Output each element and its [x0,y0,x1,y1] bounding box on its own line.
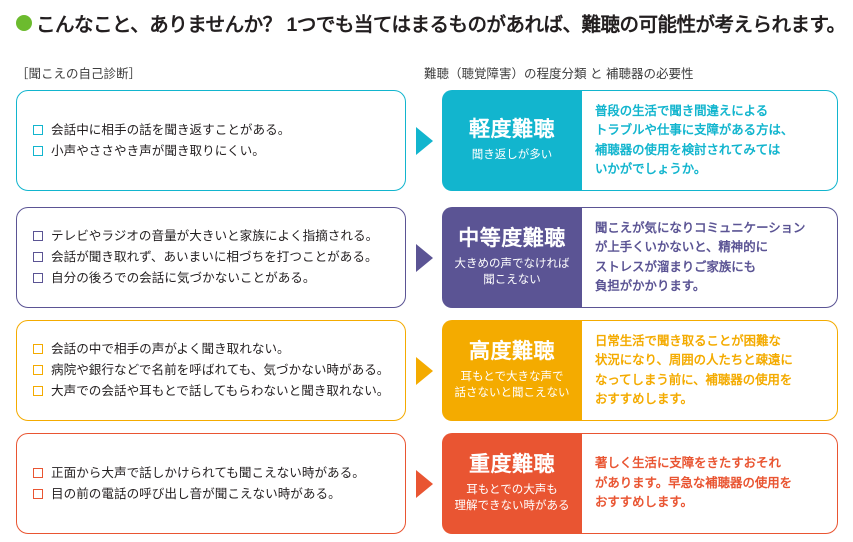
checkbox-icon[interactable] [33,252,43,262]
checklist-item-label: 病院や銀行などで名前を呼ばれても、気づかない時がある。 [51,360,389,381]
description-line: が上手くいかないと、精神的に [595,238,827,258]
page-headline: こんなこと、ありませんか？ 1つでも当てはまるものがあれば、難聴の可能性が考えら… [16,8,842,37]
checklist-card: 会話中に相手の話を聞き返すことがある。小声やささやき声が聞き取りにくい。 [16,90,406,191]
checkbox-icon[interactable] [33,146,43,156]
triangle-right-icon [416,470,433,498]
checkbox-icon[interactable] [33,125,43,135]
grade-name: 重度難聴 [469,453,555,477]
description-line: 補聴器の使用を検討されてみては [595,141,827,161]
headline-text: こんなこと、ありませんか？ 1つでも当てはまるものがあれば、難聴の可能性が考えら… [36,8,846,37]
checklist-item[interactable]: 会話の中で相手の声がよく聞き取れない。 [33,339,391,360]
checklist-item-label: 自分の後ろでの会話に気づかないことがある。 [51,268,315,289]
checklist-item-label: 会話の中で相手の声がよく聞き取れない。 [51,339,290,360]
severity-description-panel: 著しく生活に支障をきたすおそれがあります。早急な補聴器の使用をおすすめします。 [582,433,838,534]
description-line: 日常生活で聞き取ることが困難な [595,332,827,352]
checklist-item-label: 正面から大声で話しかけられても聞こえない時がある。 [51,463,365,484]
triangle-right-icon [416,357,433,385]
description-line: いかがでしょうか。 [595,160,827,180]
arrow-connector [406,90,442,191]
description-line: 普段の生活で聞き間違えによる [595,102,827,122]
column-header-left: ［聞こえの自己診断］ [16,63,141,82]
checklist-card: 正面から大声で話しかけられても聞こえない時がある。目の前の電話の呼び出し音が聞こ… [16,433,406,534]
checklist-item[interactable]: 自分の後ろでの会話に気づかないことがある。 [33,268,391,289]
checklist-item-label: 小声やささやき声が聞き取りにくい。 [51,141,265,162]
grade-name: 高度難聴 [469,340,555,364]
description-line: 著しく生活に支障をきたすおそれ [595,454,827,474]
severity-grade-block: 軽度難聴 聞き返しが多い [442,90,582,191]
description-line: おすすめします。 [595,493,827,513]
checklist-item[interactable]: 会話が聞き取れず、あいまいに相づちを打つことがある。 [33,247,391,268]
severity-grade-block: 中等度難聴 大きめの声でなければ聞こえない [442,207,582,308]
checkbox-icon[interactable] [33,386,43,396]
severity-grade-block: 高度難聴 耳もとで大きな声で話さないと聞こえない [442,320,582,421]
checkbox-icon[interactable] [33,489,43,499]
grade-subtitle: 耳もとで大きな声で話さないと聞こえない [455,369,570,401]
grade-subtitle: 耳もとでの大声も理解できない時がある [455,482,570,514]
grade-name: 軽度難聴 [469,118,555,142]
checklist-item[interactable]: 病院や銀行などで名前を呼ばれても、気づかない時がある。 [33,360,391,381]
triangle-right-icon [416,127,433,155]
checklist-item-label: テレビやラジオの音量が大きいと家族によく指摘される。 [51,226,378,247]
checkbox-icon[interactable] [33,365,43,375]
description-line: があります。早急な補聴器の使用を [595,474,827,494]
arrow-connector [406,320,442,421]
description-line: トラブルや仕事に支障がある方は、 [595,121,827,141]
description-line: なってしまう前に、補聴器の使用を [595,371,827,391]
severity-row: 会話の中で相手の声がよく聞き取れない。病院や銀行などで名前を呼ばれても、気づかな… [16,320,838,421]
checklist-item-label: 大声での会話や耳もとで話してもらわないと聞き取れない。 [51,381,389,402]
description-line: 負担がかかります。 [595,277,827,297]
grade-subtitle: 聞き返しが多い [472,147,553,163]
column-header-right: 難聴（聴覚障害）の程度分類 と 補聴器の必要性 [424,63,693,82]
checklist-card: テレビやラジオの音量が大きいと家族によく指摘される。会話が聞き取れず、あいまいに… [16,207,406,308]
severity-grade-block: 重度難聴 耳もとでの大声も理解できない時がある [442,433,582,534]
checkbox-icon[interactable] [33,231,43,241]
arrow-connector [406,433,442,534]
green-bullet-icon [16,15,32,31]
triangle-right-icon [416,244,433,272]
description-line: 状況になり、周囲の人たちと疎遠に [595,351,827,371]
checklist-item[interactable]: 小声やささやき声が聞き取りにくい。 [33,141,391,162]
checklist-card: 会話の中で相手の声がよく聞き取れない。病院や銀行などで名前を呼ばれても、気づかな… [16,320,406,421]
description-line: おすすめします。 [595,390,827,410]
description-line: 聞こえが気になりコミュニケーション [595,219,827,239]
checklist-item[interactable]: 正面から大声で話しかけられても聞こえない時がある。 [33,463,391,484]
arrow-connector [406,207,442,308]
grade-subtitle: 大きめの声でなければ聞こえない [455,256,570,288]
description-line: ストレスが溜まりご家族にも [595,258,827,278]
severity-description-panel: 聞こえが気になりコミュニケーションが上手くいかないと、精神的にストレスが溜まりご… [582,207,838,308]
grade-name: 中等度難聴 [458,227,566,251]
checkbox-icon[interactable] [33,468,43,478]
severity-description-panel: 普段の生活で聞き間違えによるトラブルや仕事に支障がある方は、補聴器の使用を検討さ… [582,90,838,191]
severity-row: テレビやラジオの音量が大きいと家族によく指摘される。会話が聞き取れず、あいまいに… [16,207,838,308]
severity-description-panel: 日常生活で聞き取ることが困難な状況になり、周囲の人たちと疎遠になってしまう前に、… [582,320,838,421]
checklist-item-label: 会話中に相手の話を聞き返すことがある。 [51,120,290,141]
checkbox-icon[interactable] [33,344,43,354]
checklist-item[interactable]: 会話中に相手の話を聞き返すことがある。 [33,120,391,141]
checklist-item-label: 目の前の電話の呼び出し音が聞こえない時がある。 [51,484,341,505]
severity-row: 会話中に相手の話を聞き返すことがある。小声やささやき声が聞き取りにくい。 軽度難… [16,90,838,191]
checklist-item[interactable]: テレビやラジオの音量が大きいと家族によく指摘される。 [33,226,391,247]
checklist-item[interactable]: 大声での会話や耳もとで話してもらわないと聞き取れない。 [33,381,391,402]
checkbox-icon[interactable] [33,273,43,283]
severity-row: 正面から大声で話しかけられても聞こえない時がある。目の前の電話の呼び出し音が聞こ… [16,433,838,534]
checklist-item-label: 会話が聞き取れず、あいまいに相づちを打つことがある。 [51,247,378,268]
checklist-item[interactable]: 目の前の電話の呼び出し音が聞こえない時がある。 [33,484,391,505]
